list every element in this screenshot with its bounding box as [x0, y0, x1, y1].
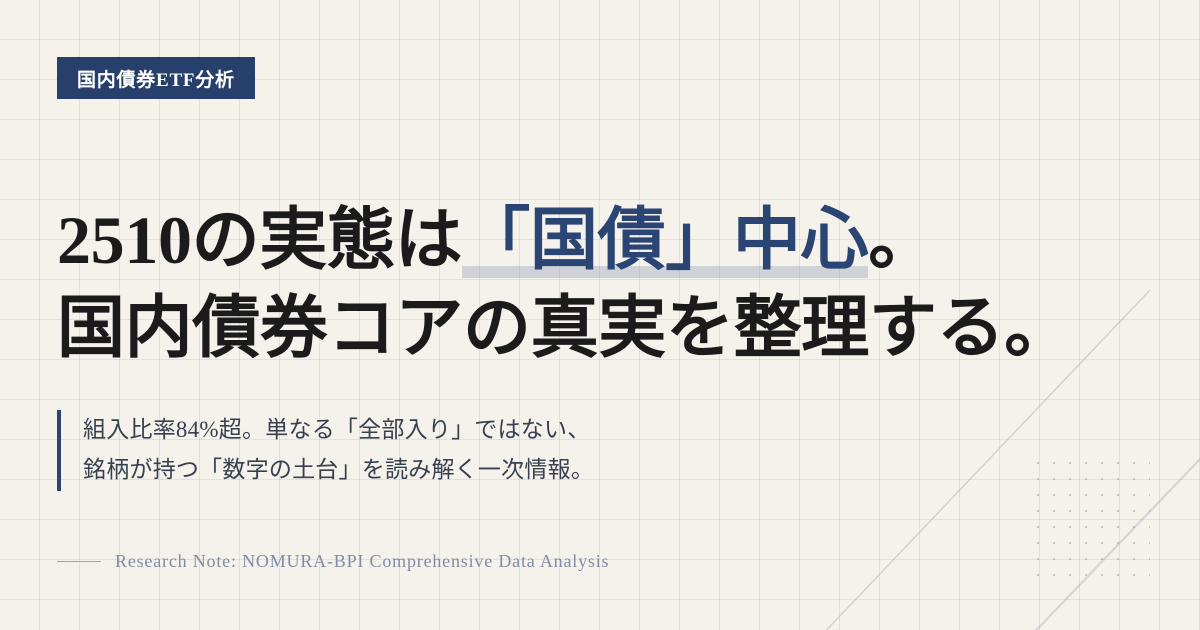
headline-prefix: 2510の実態は [57, 202, 462, 278]
category-badge-label: 国内債券ETF分析 [77, 65, 235, 92]
footer-note-text: Research Note: NOMURA-BPI Comprehensive … [115, 551, 609, 572]
footer-rule-divider [57, 561, 101, 562]
headline-line-1: 2510の実態は「国債」中心。 [57, 196, 1077, 284]
subtitle-line-1: 組入比率84%超。単なる「全部入り」ではない、 [83, 410, 594, 450]
slide-canvas: 国内債券ETF分析 2510の実態は「国債」中心。 国内債券コアの真実を整理する… [0, 0, 1200, 630]
footer-note: Research Note: NOMURA-BPI Comprehensive … [57, 551, 609, 572]
dot-matrix-pattern [1030, 455, 1150, 579]
page-title: 2510の実態は「国債」中心。 国内債券コアの真実を整理する。 [57, 196, 1077, 373]
headline-line-2: 国内債券コアの真実を整理する。 [57, 284, 1077, 372]
headline-highlight: 「国債」中心 [462, 202, 868, 278]
category-badge: 国内債券ETF分析 [57, 57, 255, 99]
subtitle: 組入比率84%超。単なる「全部入り」ではない、 銘柄が持つ「数字の土台」を読み解… [57, 410, 594, 491]
headline-suffix: 。 [868, 202, 936, 278]
subtitle-line-2: 銘柄が持つ「数字の土台」を読み解く一次情報。 [83, 450, 594, 490]
